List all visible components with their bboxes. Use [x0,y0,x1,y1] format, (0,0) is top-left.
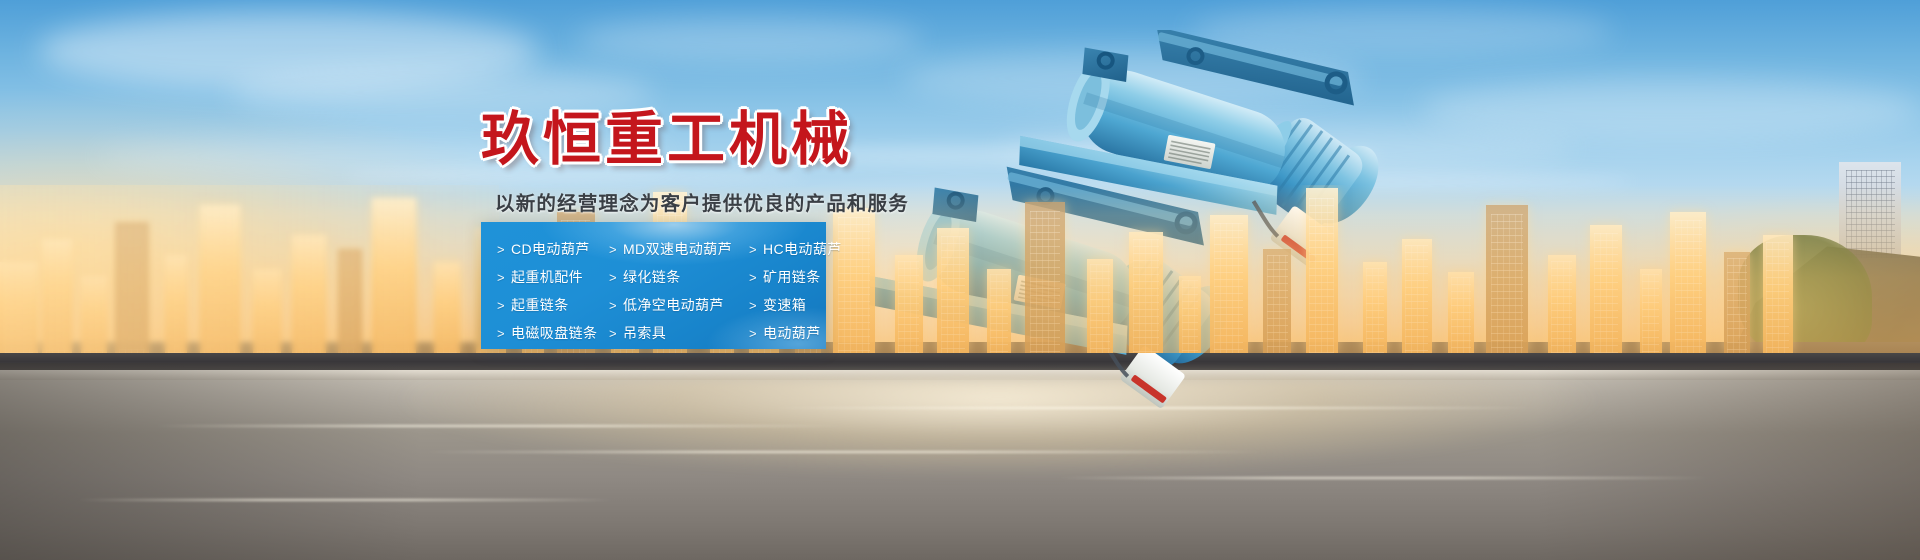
motion-streak [1056,477,1709,479]
hero-text-block: 玖恒重工机械 以新的经营理念为客户提供优良的产品和服务 [481,110,1001,216]
chevron-right-icon: > [749,270,757,285]
chevron-right-icon: > [609,270,617,285]
product-links-panel: >CD电动葫芦>MD双速电动葫芦>HC电动葫芦>起重机配件>绿化链条>矿用链条>… [481,222,826,349]
product-link-label: MD双速电动葫芦 [623,239,732,259]
chevron-right-icon: > [749,298,757,313]
product-link[interactable]: >绿化链条 [609,267,749,287]
hero-banner: 玖恒重工机械 以新的经营理念为客户提供优良的产品和服务 >CD电动葫芦>MD双速… [0,0,1920,560]
chevron-right-icon: > [497,298,505,313]
product-link[interactable]: >起重链条 [497,295,609,315]
chevron-right-icon: > [609,242,617,257]
cloud [576,17,922,62]
chevron-right-icon: > [749,242,757,257]
road-light-reflection [269,377,1728,486]
chevron-right-icon: > [497,270,505,285]
product-link-label: 电磁吸盘链条 [511,323,597,343]
cloud [1190,6,1612,56]
chevron-right-icon: > [609,298,617,313]
product-link-label: 起重机配件 [511,267,583,287]
hero-subtitle: 以新的经营理念为客户提供优良的产品和服务 [495,187,1001,216]
product-link[interactable]: >变速箱 [749,295,842,315]
product-link-label: 变速箱 [763,295,806,315]
road-shadow-right [1536,363,1920,560]
city-blur-overlay [0,185,499,353]
product-link-label: 起重链条 [511,295,569,315]
motion-streak [768,407,1536,409]
product-link-label: 电动葫芦 [763,323,821,343]
road-shadow-left [0,363,422,560]
motion-streak [422,451,1267,453]
motion-streak [154,425,845,427]
highway [0,342,1920,560]
chevron-right-icon: > [749,326,757,341]
product-links-grid: >CD电动葫芦>MD双速电动葫芦>HC电动葫芦>起重机配件>绿化链条>矿用链条>… [481,235,826,347]
product-link[interactable]: >矿用链条 [749,267,842,287]
chevron-right-icon: > [497,242,505,257]
page-title: 玖恒重工机械 [481,110,1001,171]
product-link[interactable]: >电磁吸盘链条 [497,323,609,343]
product-link[interactable]: >低净空电动葫芦 [609,295,749,315]
chevron-right-icon: > [497,326,505,341]
product-link[interactable]: >CD电动葫芦 [497,239,609,259]
product-link-label: 绿化链条 [623,267,681,287]
product-link[interactable]: >HC电动葫芦 [749,239,842,259]
product-link[interactable]: >吊索具 [609,323,749,343]
product-link[interactable]: >MD双速电动葫芦 [609,239,749,259]
motion-streak [77,499,615,501]
chevron-right-icon: > [609,326,617,341]
product-link[interactable]: >起重机配件 [497,267,609,287]
product-link-label: 矿用链条 [763,267,821,287]
product-link-label: 吊索具 [623,323,666,343]
product-link[interactable]: >电动葫芦 [749,323,842,343]
product-link-label: 低净空电动葫芦 [623,295,724,315]
product-link-label: CD电动葫芦 [511,239,590,259]
product-link-label: HC电动葫芦 [763,239,842,259]
